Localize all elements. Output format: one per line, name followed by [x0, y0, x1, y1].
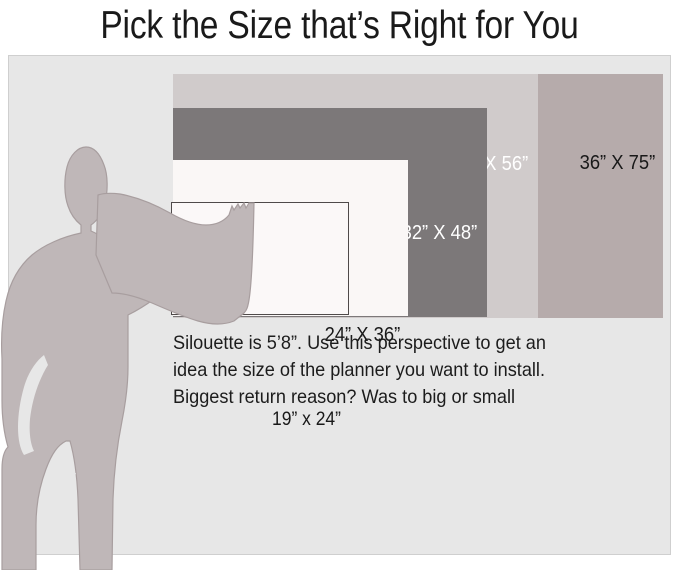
size-rect-19x24[interactable]: 19” x 24”: [171, 202, 349, 315]
page-title: Pick the Size that’s Right for You: [48, 0, 632, 52]
size-comparison-infographic: Pick the Size that’s Right for You 36” X…: [0, 0, 679, 570]
caption-line-3: Biggest return reason? Was to big or sma…: [173, 384, 629, 411]
size-label-32x48: 32” X 48”: [401, 222, 477, 245]
caption: Silouette is 5’8”. Use this perspective …: [173, 330, 629, 411]
caption-line-1: Silouette is 5’8”. Use this perspective …: [173, 330, 629, 357]
size-rect-36x75[interactable]: 36” X 75”: [538, 74, 663, 318]
caption-line-2: idea the size of the planner you want to…: [173, 357, 629, 384]
size-label-19x24: 19” x 24”: [272, 409, 341, 431]
size-label-36x75: 36” X 75”: [579, 152, 655, 175]
